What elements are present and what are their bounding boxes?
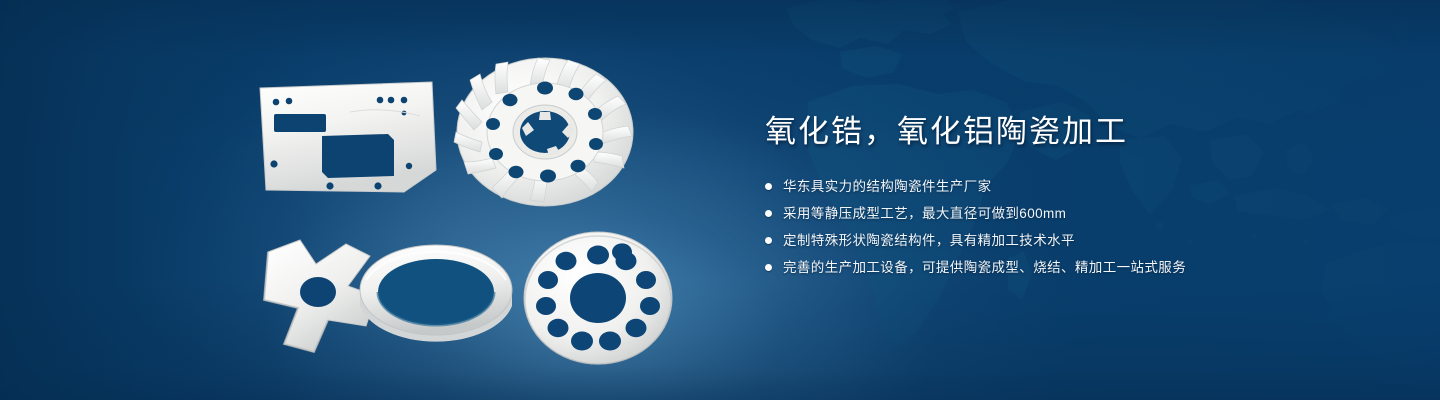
bullet-dot-icon: [765, 183, 772, 190]
banner-text-block: 氧化锆，氧化铝陶瓷加工 华东具实力的结构陶瓷件生产厂家 采用等静压成型工艺，最大…: [765, 112, 1385, 284]
ceramic-perforated-disc-image: [522, 228, 674, 368]
banner-headline: 氧化锆，氧化铝陶瓷加工: [765, 112, 1385, 152]
feature-bullet-item: 采用等静压成型工艺，最大直径可做到600mm: [765, 203, 1385, 224]
feature-bullet-text: 完善的生产加工设备，可提供陶瓷成型、烧结、精加工一站式服务: [783, 257, 1186, 278]
feature-bullet-text: 定制特殊形状陶瓷结构件，具有精加工技术水平: [783, 230, 1075, 251]
feature-bullet-text: 华东具实力的结构陶瓷件生产厂家: [783, 176, 992, 197]
feature-bullet-text: 采用等静压成型工艺，最大直径可做到600mm: [783, 203, 1066, 224]
feature-bullet-item: 完善的生产加工设备，可提供陶瓷成型、烧结、精加工一站式服务: [765, 257, 1385, 278]
feature-bullet-item: 华东具实力的结构陶瓷件生产厂家: [765, 176, 1385, 197]
ceramic-ring-image: [356, 236, 516, 360]
ceramic-impeller-image: [452, 52, 638, 208]
ceramic-plate-image: [254, 78, 439, 196]
product-photo-group: [0, 0, 720, 400]
hero-banner: 氧化锆，氧化铝陶瓷加工 华东具实力的结构陶瓷件生产厂家 采用等静压成型工艺，最大…: [0, 0, 1440, 400]
feature-bullet-list: 华东具实力的结构陶瓷件生产厂家 采用等静压成型工艺，最大直径可做到600mm 定…: [765, 176, 1385, 278]
bullet-dot-icon: [765, 237, 772, 244]
feature-bullet-item: 定制特殊形状陶瓷结构件，具有精加工技术水平: [765, 230, 1385, 251]
bullet-dot-icon: [765, 264, 772, 271]
bullet-dot-icon: [765, 210, 772, 217]
